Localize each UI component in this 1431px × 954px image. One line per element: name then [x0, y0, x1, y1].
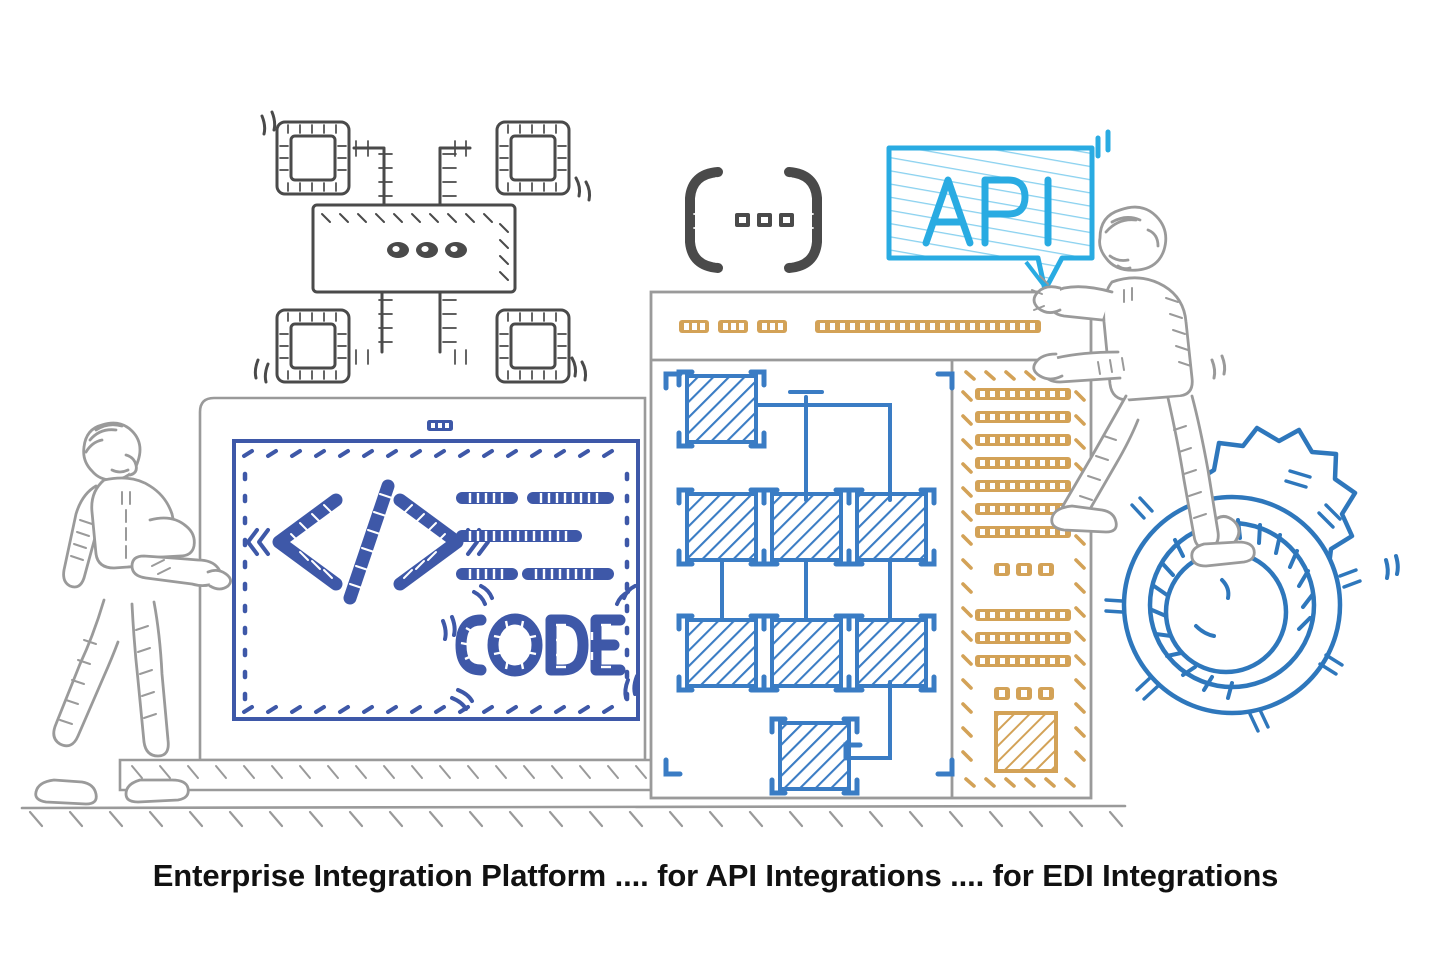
- ground-line: [22, 806, 1125, 826]
- settings-gear: [1106, 428, 1398, 731]
- flow-node: [764, 490, 849, 564]
- illustration-canvas: Enterprise Integration Platform .... for…: [0, 0, 1431, 954]
- flow-node: [849, 490, 934, 564]
- enterprise-integration-illustration: [0, 0, 1431, 954]
- integration-server: [651, 292, 1091, 798]
- api-speech-bubble: [889, 132, 1108, 290]
- server-top-indicators: [679, 320, 1041, 333]
- flow-node: [679, 372, 764, 446]
- edi-hatched-block: [996, 713, 1056, 771]
- page-caption: Enterprise Integration Platform .... for…: [0, 858, 1431, 894]
- code-brackets-symbol: [690, 172, 817, 268]
- laptop-webcam-icon: [427, 420, 453, 431]
- flow-node: [679, 490, 764, 564]
- network-hub-diagram: [255, 112, 589, 382]
- flow-node: [849, 616, 934, 690]
- flow-node: [764, 616, 849, 690]
- flow-node: [679, 616, 764, 690]
- bubble-spark-icon: [1098, 132, 1108, 156]
- code-laptop: [120, 398, 655, 790]
